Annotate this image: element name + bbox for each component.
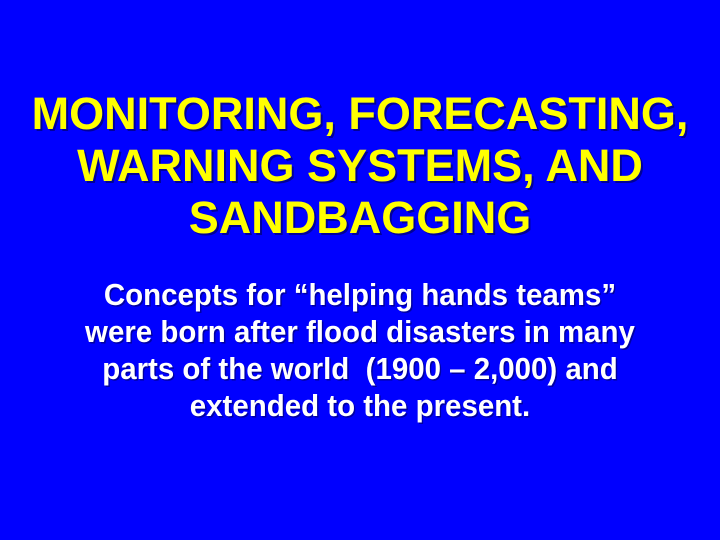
slide-title: MONITORING, FORECASTING, WARNING SYSTEMS… — [0, 88, 720, 244]
title-line-3: SANDBAGGING — [0, 192, 720, 244]
title-line-2: WARNING SYSTEMS, AND — [0, 140, 720, 192]
body-line-1: Concepts for “helping hands teams” — [18, 276, 702, 313]
body-line-3: parts of the world (1900 – 2,000) and — [18, 350, 702, 387]
title-line-1: MONITORING, FORECASTING, — [0, 88, 720, 140]
body-line-2: were born after flood disasters in many — [18, 313, 702, 350]
slide-body-text: Concepts for “helping hands teams” were … — [0, 276, 720, 424]
body-line-4: extended to the present. — [18, 387, 702, 424]
presentation-slide: MONITORING, FORECASTING, WARNING SYSTEMS… — [0, 0, 720, 540]
